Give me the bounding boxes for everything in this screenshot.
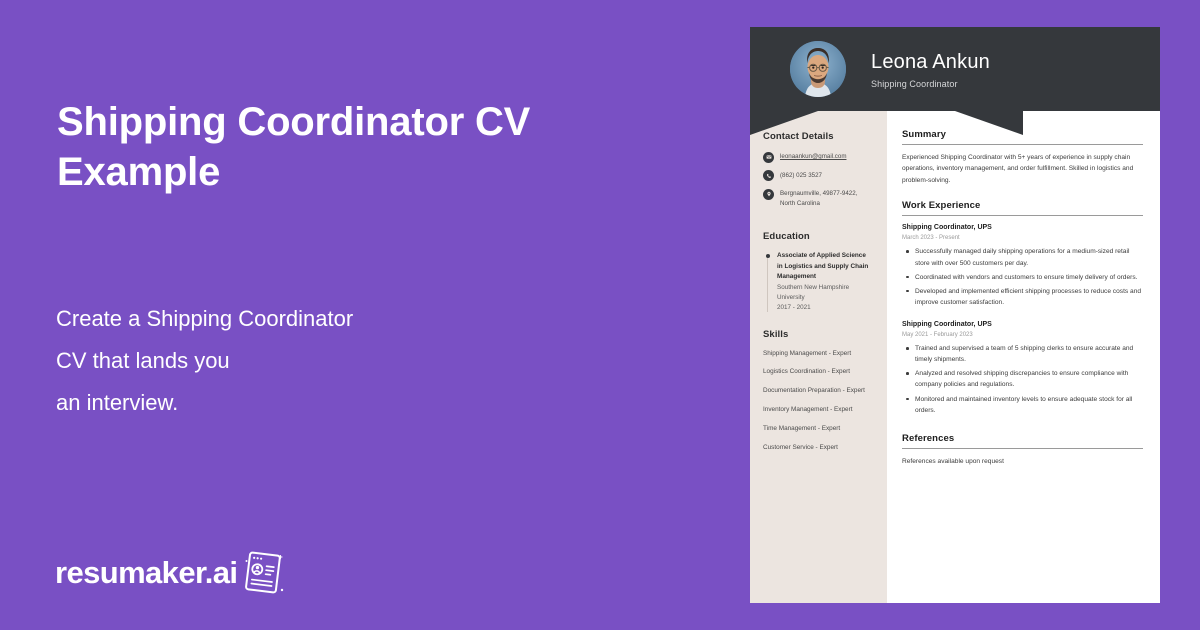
work-experience-item: Shipping Coordinator, UPS May 2021 - Feb… [902,320,1143,416]
page-title: Shipping Coordinator CV Example [57,97,577,198]
phone-icon [763,170,774,181]
contact-item-phone[interactable]: (862) 025 3527 [763,170,873,182]
job-bullet: Coordinated with vendors and customers t… [902,272,1143,283]
work-experience-heading: Work Experience [902,200,1143,216]
page-title-line-1: Shipping Coordinator [57,100,464,144]
page-subtitle-line-3: an interview. [56,382,576,424]
contact-address-value: Bergnaumville, 49877-9422, North Carolin… [780,188,873,208]
cv-header: Leona Ankun Shipping Coordinator [750,27,1160,111]
job-bullet: Trained and supervised a team of 5 shipp… [902,343,1143,365]
cv-name-block: Leona Ankun Shipping Coordinator [871,50,990,89]
timeline-line [767,258,768,311]
cv-candidate-name: Leona Ankun [871,50,990,74]
cv-candidate-role: Shipping Coordinator [871,79,990,89]
education-item: Associate of Applied Science in Logistic… [763,251,873,313]
envelope-icon [763,152,774,163]
skills-heading: Skills [763,329,873,340]
brand-logo-text: resumaker.ai [55,557,237,588]
contact-phone-value: (862) 025 3527 [780,170,822,181]
job-bullet: Analyzed and resolved shipping discrepan… [902,368,1143,390]
contact-item-address[interactable]: Bergnaumville, 49877-9422, North Carolin… [763,188,873,208]
job-bullet-list: Successfully managed daily shipping oper… [902,246,1143,307]
contact-item-email[interactable]: leonaankun@gmail.com [763,151,873,163]
skill-item: Customer Service - Expert [763,443,873,453]
skill-item: Shipping Management - Expert [763,349,873,359]
page-subtitle-line-2: CV that lands you [56,340,576,382]
job-dates: March 2023 - Present [902,234,1143,243]
cv-sidebar: Contact Details leonaankun@gmail.com (86… [750,111,887,603]
skill-item: Logistics Coordination - Expert [763,367,873,377]
promo-panel: Shipping Coordinator CV Example Create a… [0,0,750,630]
timeline-dot-icon [766,254,770,258]
page-subtitle: Create a Shipping Coordinator CV that la… [56,298,576,425]
summary-text: Experienced Shipping Coordinator with 5+… [902,152,1143,186]
references-text: References available upon request [902,456,1143,467]
skill-item: Time Management - Expert [763,424,873,434]
work-experience-item: Shipping Coordinator, UPS March 2023 - P… [902,223,1143,308]
cv-body: Contact Details leonaankun@gmail.com (86… [750,111,1160,603]
job-bullet: Successfully managed daily shipping oper… [902,246,1143,268]
brand-logo[interactable]: resumaker.ai [55,548,286,596]
location-pin-icon [763,189,774,200]
resume-document-icon [240,548,286,596]
job-dates: May 2021 - February 2023 [902,331,1143,340]
job-title: Shipping Coordinator, UPS [902,320,1143,331]
skill-item: Documentation Preparation - Expert [763,386,873,396]
job-bullet: Monitored and maintained inventory level… [902,394,1143,416]
job-bullet-list: Trained and supervised a team of 5 shipp… [902,343,1143,415]
job-title: Shipping Coordinator, UPS [902,223,1143,234]
education-degree: Associate of Applied Science in Logistic… [777,251,873,282]
education-timeline-rail [763,251,774,313]
cv-preview-card[interactable]: Leona Ankun Shipping Coordinator Contact… [750,27,1160,603]
education-dates: 2017 - 2021 [777,303,873,313]
cv-main-column: Summary Experienced Shipping Coordinator… [887,111,1160,603]
page-subtitle-line-1: Create a Shipping Coordinator [56,298,576,340]
references-heading: References [902,433,1143,449]
contact-email-value: leonaankun@gmail.com [780,151,846,162]
skill-item: Inventory Management - Expert [763,405,873,415]
avatar [790,41,846,97]
education-school: Southern New Hampshire University [777,283,873,303]
education-heading: Education [763,231,873,242]
job-bullet: Developed and implemented efficient ship… [902,286,1143,308]
